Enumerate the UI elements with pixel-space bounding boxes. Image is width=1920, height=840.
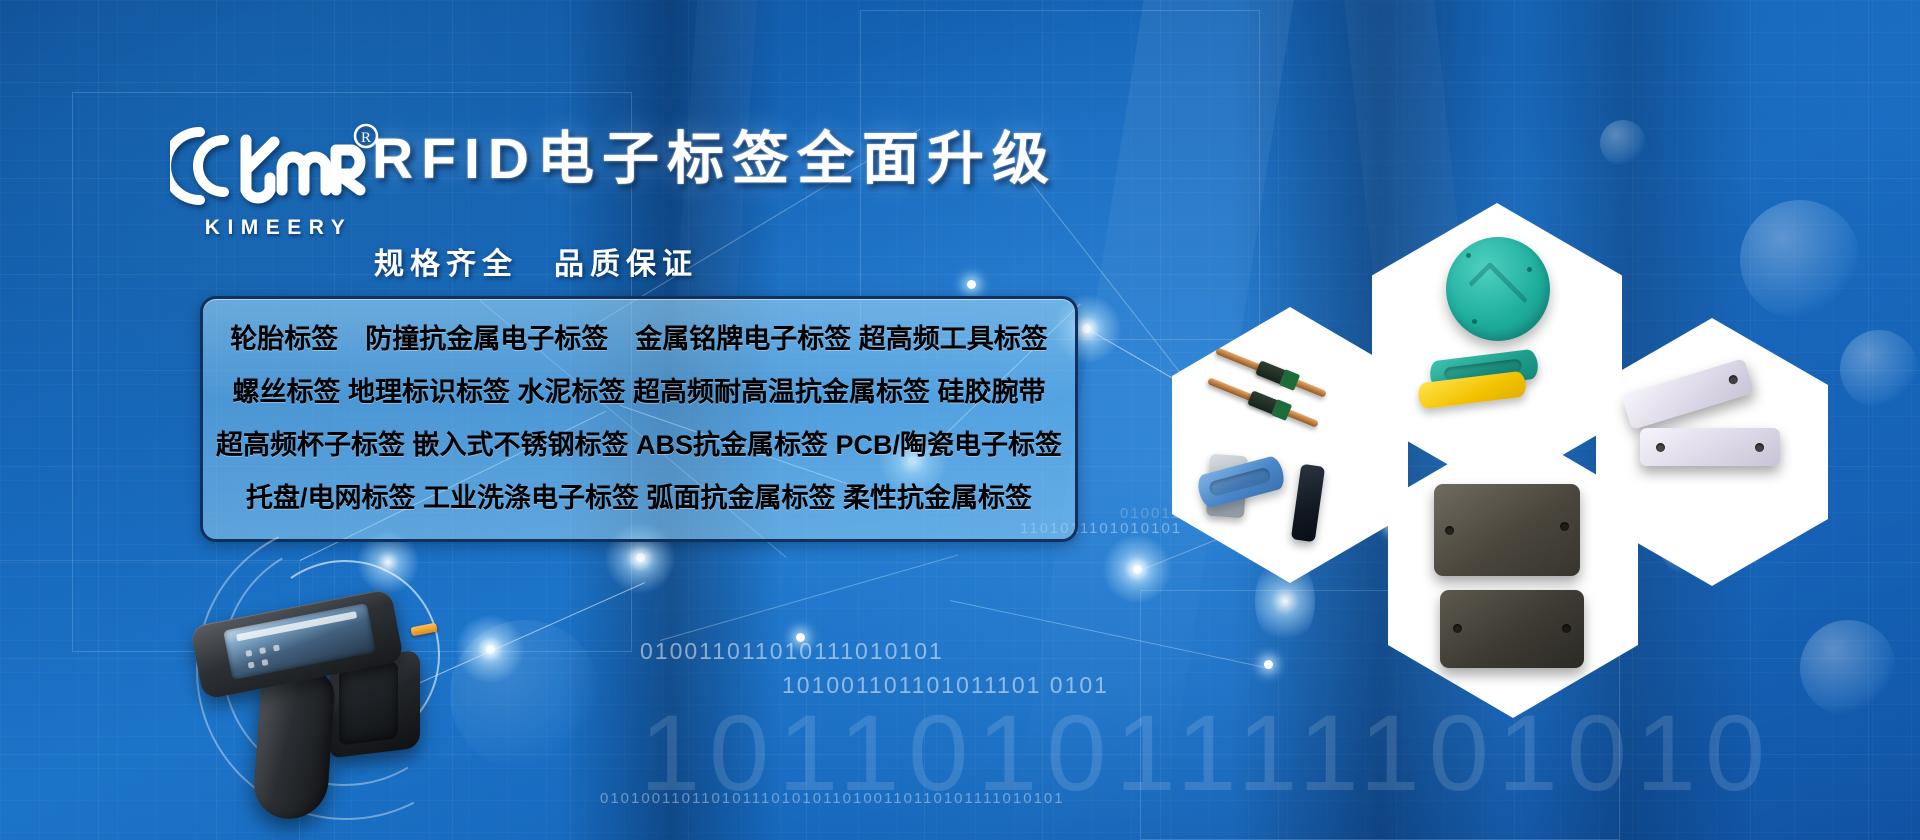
network-node-3	[1082, 324, 1091, 333]
product-list-panel: 轮胎标签 防撞抗金属电子标签 金属铭牌电子标签 超高频工具标签 螺丝标签 地理标…	[200, 296, 1078, 542]
product-row-3: 超高频杯子标签 嵌入式不锈钢标签 ABS抗金属标签 PCB/陶瓷电子标签	[203, 419, 1075, 472]
binary-string-3: 0101001101101011101010110100110110101111…	[600, 790, 1065, 807]
reader-touchscreen[interactable]	[223, 603, 376, 680]
product-row-2: 螺丝标签 地理标识标签 水泥标签 超高频耐高温抗金属标签 硅胶腕带	[203, 366, 1075, 419]
reader-screen-icon-2	[259, 647, 266, 654]
kimeery-logo: R KIMEERY	[170, 120, 380, 240]
reader-antenna-face	[339, 661, 398, 745]
teal-disc-hole-1	[1466, 253, 1471, 258]
black-ceramic-tag	[1291, 464, 1325, 543]
reader-screen-icon-1	[245, 650, 252, 657]
reader-scan-key[interactable]	[410, 623, 437, 637]
dark-tag-hole-upper-left	[1445, 526, 1454, 535]
network-node-9	[1264, 660, 1273, 669]
handheld-uhf-rfid-reader	[195, 595, 455, 840]
white-tag-hole-upper	[1728, 374, 1739, 385]
page-title: RFID电子标签全面升级	[372, 113, 1057, 195]
kmr-signal-logo-mark: R	[170, 120, 380, 214]
reader-pistol-grip	[252, 667, 336, 822]
network-node-6	[967, 280, 976, 289]
white-tag-hole-lower-left	[1656, 443, 1665, 452]
binary-string-1: 010011011010111010101	[640, 638, 944, 665]
teal-disc-tag	[1446, 237, 1550, 341]
product-row-1: 轮胎标签 防撞抗金属电子标签 金属铭牌电子标签 超高频工具标签	[203, 313, 1075, 366]
dark-tag-hole-lower-right	[1562, 624, 1571, 633]
background-bubble-5	[1600, 120, 1646, 166]
background-bubble-4	[1800, 620, 1896, 716]
logo-wordmark: KIMEERY	[170, 216, 380, 240]
product-row-4: 托盘/电网标签 工业洗涤电子标签 弧面抗金属标签 柔性抗金属标签	[203, 472, 1075, 525]
rfid-promo-banner: 010011011010111010101 101001101101011101…	[0, 0, 1920, 840]
reader-screen-icon-4	[248, 662, 255, 669]
blue-tag-slot	[1208, 466, 1272, 496]
teal-disc-hole-3	[1472, 319, 1477, 324]
reader-screen-icon-5	[261, 659, 268, 666]
white-anti-metal-tag-lower	[1640, 428, 1780, 466]
background-bubble-1	[1740, 200, 1860, 320]
reader-screen-statusbar	[236, 611, 358, 641]
dark-anti-metal-tag-upper	[1434, 484, 1580, 576]
page-subtitle: 规格齐全 品质保证	[374, 239, 698, 283]
dark-tag-hole-lower-left	[1453, 624, 1462, 633]
reader-screen-icon-3	[273, 644, 280, 651]
svg-text:R: R	[361, 130, 371, 146]
teal-disc-hole-2	[1527, 267, 1532, 272]
teal-disc-chevron	[1468, 261, 1528, 321]
network-node-1	[636, 553, 645, 562]
dark-tag-hole-upper-right	[1560, 522, 1569, 531]
white-anti-metal-tag-upper	[1622, 358, 1755, 430]
white-tag-hole-lower-right	[1755, 443, 1764, 452]
dark-anti-metal-tag-lower	[1440, 590, 1584, 668]
background-bubble-2	[1840, 330, 1918, 408]
network-node-4	[1133, 565, 1142, 574]
